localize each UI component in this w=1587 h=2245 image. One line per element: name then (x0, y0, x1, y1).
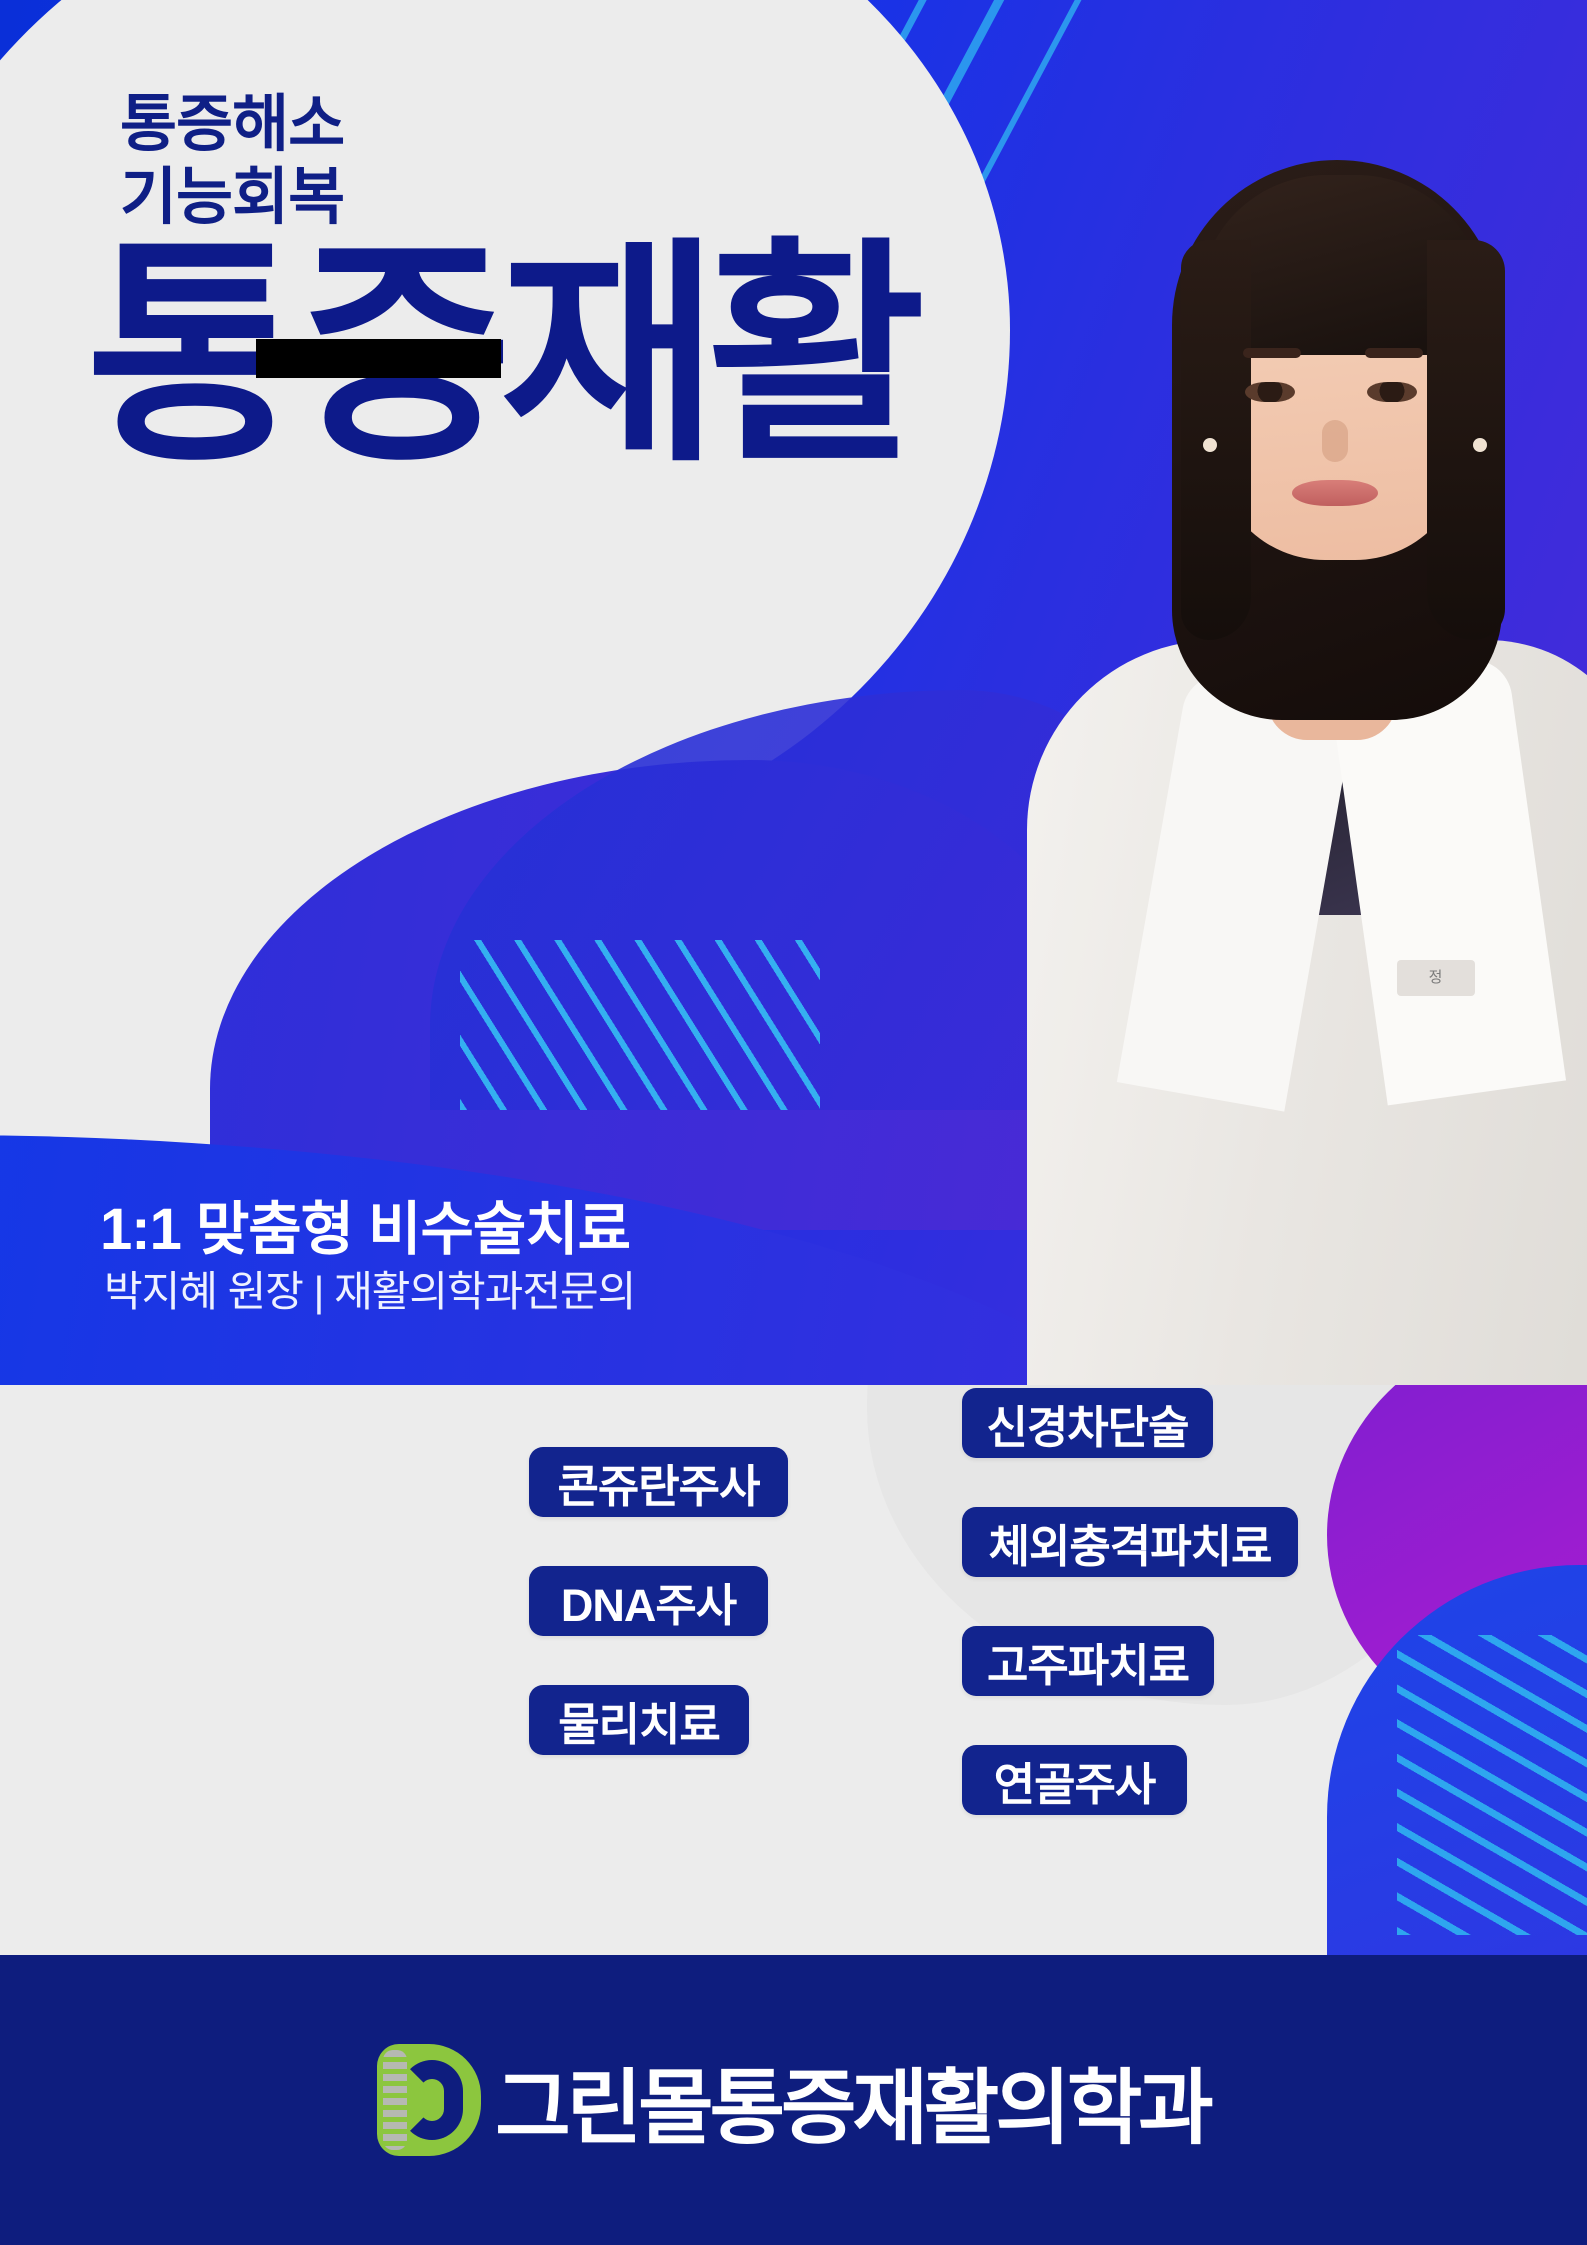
doctor-earring-right (1473, 438, 1487, 452)
treatment-badge-radiofrequency[interactable]: 고주파치료 (962, 1626, 1214, 1696)
subtitle-primary: 1:1 맞춤형 비수술치료 (100, 1182, 630, 1266)
footer-logo-group: 그린몰통증재활의학과 (377, 2041, 1209, 2160)
treatment-badge-physical-therapy[interactable]: 물리치료 (529, 1685, 749, 1755)
doctor-eyebrow-right (1365, 348, 1423, 358)
logo-spine-graphic (383, 2050, 407, 2150)
treatment-badge-konjuran[interactable]: 콘쥬란주사 (529, 1447, 788, 1517)
subtitle-secondary: 박지혜 원장 | 재활의학과전문의 (104, 1258, 635, 1319)
hero-kicker-line1: 통증해소 (120, 90, 344, 159)
footer-bar: 그린몰통증재활의학과 (0, 1955, 1587, 2245)
doctor-nose (1322, 420, 1348, 462)
hero-kicker-line2: 기능회복 (120, 163, 344, 232)
doctor-lips (1292, 480, 1378, 506)
doctor-hair-side-right (1427, 240, 1505, 640)
hero-panel: 정 통증해소기능회복 통증재활 1:1 맞춤형 비수술치료 박지혜 원장 | 재… (0, 0, 1587, 1385)
doctor-earring-left (1203, 438, 1217, 452)
treatment-badge-nerve-block[interactable]: 신경차단술 (962, 1388, 1213, 1458)
doctor-hair-side-left (1181, 240, 1251, 640)
doctor-photo: 정 (967, 120, 1587, 1385)
doctor-coat-name-badge: 정 (1397, 960, 1475, 996)
doctor-eyebrow-left (1243, 348, 1301, 358)
green-spine-logo-icon (377, 2044, 481, 2156)
treatment-badge-eswt[interactable]: 체외충격파치료 (962, 1507, 1298, 1577)
clinic-name: 그린몰통증재활의학과 (495, 2041, 1209, 2160)
doctor-eye-right (1367, 382, 1417, 402)
logo-inner-c-shape (401, 2060, 463, 2140)
hero-kicker: 통증해소기능회복 (120, 88, 344, 234)
redaction-bar (256, 339, 501, 378)
diagonal-stripes-right-decoration (1397, 1635, 1587, 1935)
treatment-badge-cartilage-injection[interactable]: 연골주사 (962, 1745, 1187, 1815)
treatments-section (0, 1385, 1587, 1955)
diagonal-streaks-mid-decoration (460, 940, 820, 1110)
treatment-badge-dna[interactable]: DNA주사 (529, 1566, 768, 1636)
doctor-eye-left (1245, 382, 1295, 402)
clinic-poster: 정 통증해소기능회복 통증재활 1:1 맞춤형 비수술치료 박지혜 원장 | 재… (0, 0, 1587, 2245)
